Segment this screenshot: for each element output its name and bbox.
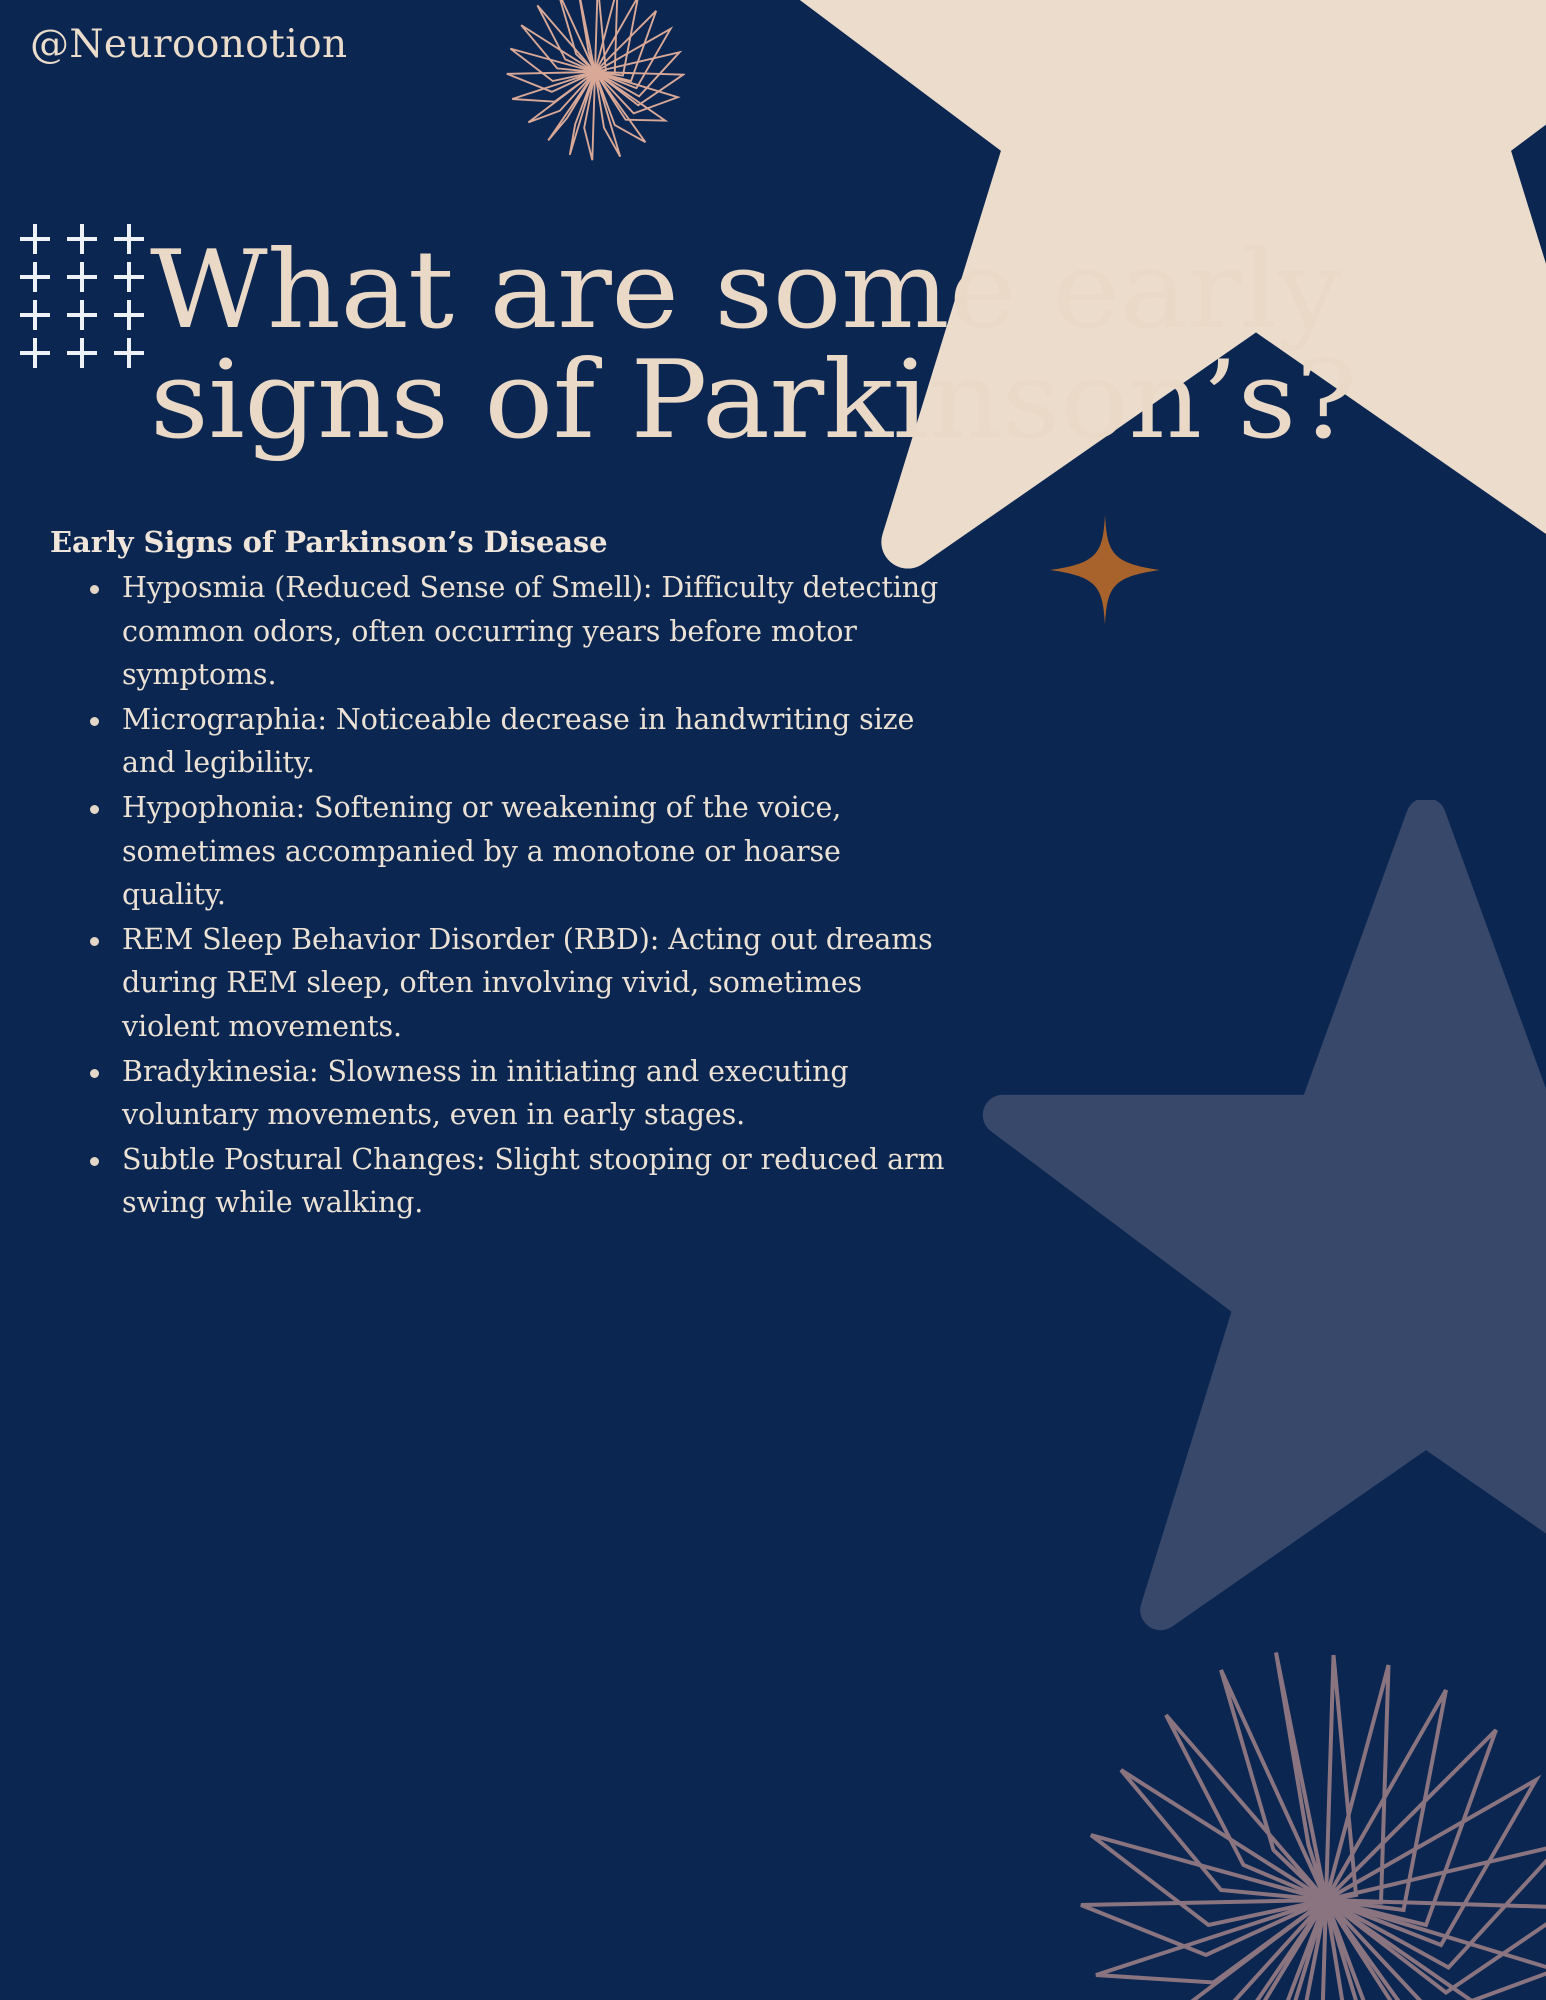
plus-mark [18, 258, 65, 296]
body-content: Early Signs of Parkinson’s Disease Hypos… [50, 525, 950, 1226]
slate-star-shape [976, 800, 1546, 1700]
page-title: What are some early signs of Parkinson’s… [150, 236, 1221, 456]
list-item: Subtle Postural Changes: Slight stooping… [82, 1138, 950, 1225]
four-point-sparkle-icon [1050, 515, 1160, 625]
headline-line-1: What are some early [150, 236, 1221, 346]
plus-mark [65, 296, 112, 334]
list-item: Hypophonia: Softening or weakening of th… [82, 786, 950, 917]
list-item: REM Sleep Behavior Disorder (RBD): Actin… [82, 918, 950, 1049]
starburst-outline-icon-bottom [1076, 1650, 1546, 2000]
poster-canvas: @Neuroonotion What are some early signs … [0, 0, 1546, 2000]
headline-line-2: signs of Parkinson’s? [150, 346, 1221, 456]
section-heading: Early Signs of Parkinson’s Disease [50, 525, 950, 559]
plus-mark [18, 334, 65, 372]
plus-grid-pattern [18, 220, 159, 372]
plus-mark [65, 258, 112, 296]
plus-mark [18, 220, 65, 258]
plus-mark [65, 220, 112, 258]
list-item: Micrographia: Noticeable decrease in han… [82, 698, 950, 785]
account-handle: @Neuroonotion [30, 22, 347, 67]
list-item: Hyposmia (Reduced Sense of Smell): Diffi… [82, 566, 950, 697]
plus-mark [18, 296, 65, 334]
list-item: Bradykinesia: Slowness in initiating and… [82, 1050, 950, 1137]
early-signs-list: Hyposmia (Reduced Sense of Smell): Diffi… [50, 566, 950, 1225]
plus-mark [65, 334, 112, 372]
starburst-outline-icon-top [505, 0, 685, 162]
